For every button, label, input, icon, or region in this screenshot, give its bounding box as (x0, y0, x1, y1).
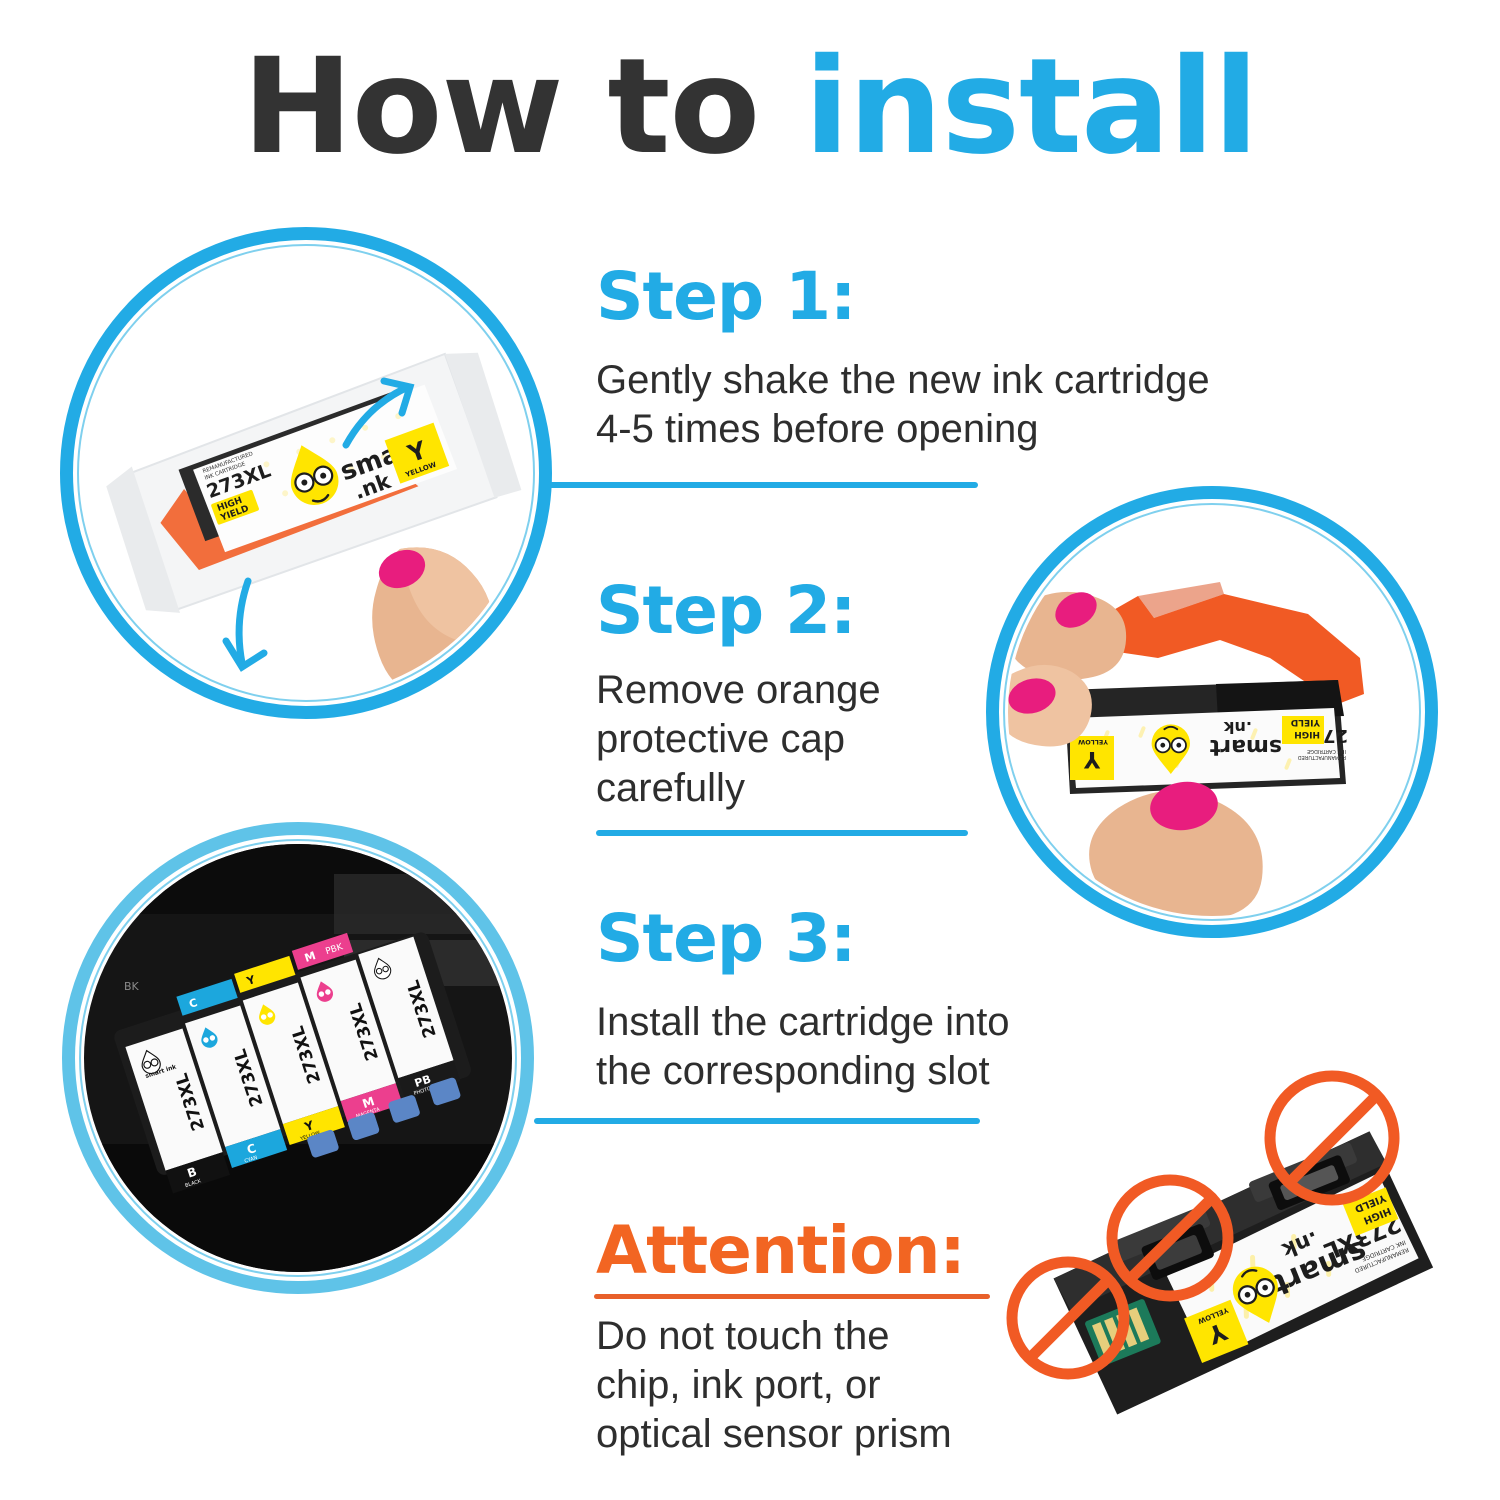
step-1-ring-outer (60, 227, 552, 719)
step-2-text: Step 2: Remove orange protective cap car… (596, 578, 1016, 812)
attention-body-full: Do not touch the chip, ink port, or opti… (0, 0, 1, 1)
attention-illustration: smart .nk REMANUFACTURED INK CARTRIDGE 2… (980, 1040, 1490, 1480)
page-title: How to install (0, 38, 1500, 177)
step-2-body-line-1: Remove orange (596, 666, 1016, 715)
step-3-ring-outer (62, 822, 534, 1294)
step-2-body: Remove orange protective cap carefully (596, 666, 1016, 812)
step-2-heading: Step 2: (596, 578, 1016, 644)
step-1-photo: REMANUFACTURED INK CARTRIDGE 273XL HIGH … (60, 227, 552, 719)
step-3-divider (534, 1118, 980, 1124)
step-3-heading: Step 3: (596, 906, 1356, 972)
step-2-body-line-2: protective cap (596, 715, 1016, 764)
step-1-divider (548, 482, 978, 488)
step-1-body-line-2: 4-5 times before opening (596, 405, 1356, 454)
step-3-body-full: Install the cartridge into the correspon… (0, 0, 1, 1)
step-1-body: Gently shake the new ink cartridge 4-5 t… (596, 356, 1356, 454)
step-1-text: Step 1: Gently shake the new ink cartrid… (596, 264, 1356, 454)
page-title-part2: install (804, 30, 1257, 184)
step-2-divider (596, 830, 968, 836)
step-2-ring-outer (986, 486, 1438, 938)
infographic-root: How to install (0, 0, 1500, 1500)
attention-divider (594, 1294, 990, 1299)
step-2-body-full: Remove orange protective cap carefully (0, 0, 1, 1)
step-1-heading: Step 1: (596, 264, 1356, 330)
step-1-body-full: Gently shake the new ink cartridge 4-5 t… (0, 0, 1, 1)
page-title-part1: How to (242, 30, 804, 184)
attention-photo: smart .nk REMANUFACTURED INK CARTRIDGE 2… (980, 1040, 1490, 1480)
step-1-body-line-1: Gently shake the new ink cartridge (596, 356, 1356, 405)
step-3-photo: B BLACK 273XL smart ink C (62, 822, 534, 1294)
step-2-photo: smart .nk REMANUFACTURED INK CARTRIDGE (986, 486, 1438, 938)
step-2-body-line-3: carefully (596, 764, 1016, 813)
